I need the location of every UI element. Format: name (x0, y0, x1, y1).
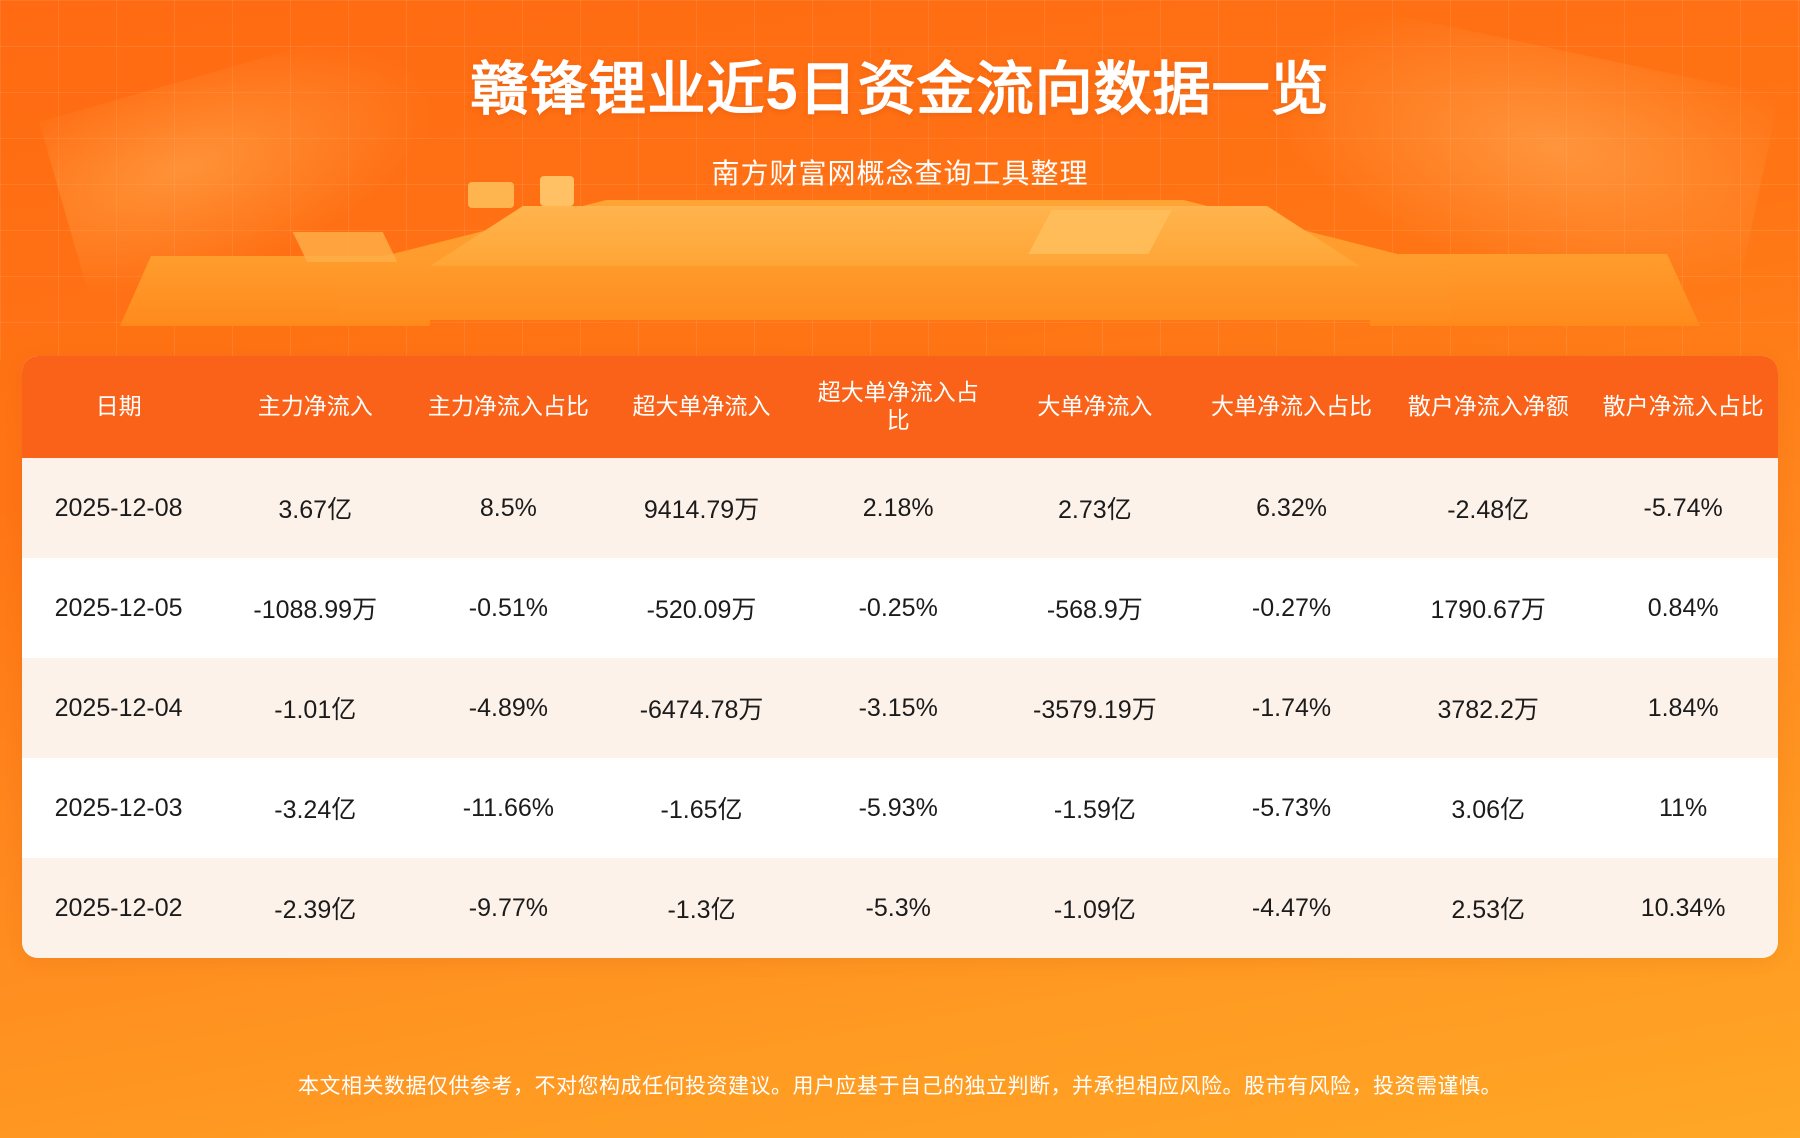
cell-retail-net: 3782.2万 (1388, 658, 1588, 758)
cell-main-pct: -9.77% (415, 858, 601, 958)
col-header-main-pct[interactable]: 主力净流入占比 (415, 356, 601, 458)
cell-retail-pct: 11% (1588, 758, 1778, 858)
block-right (1370, 254, 1700, 326)
block-center-top (430, 206, 1360, 266)
cell-retail-net: 2.53亿 (1388, 858, 1588, 958)
col-header-large-net[interactable]: 大单净流入 (995, 356, 1195, 458)
table-row: 2025-12-04 -1.01亿 -4.89% -6474.78万 -3.15… (22, 658, 1778, 758)
col-header-date[interactable]: 日期 (22, 356, 215, 458)
cell-date: 2025-12-03 (22, 758, 215, 858)
cell-date: 2025-12-05 (22, 558, 215, 658)
cell-main-net: 3.67亿 (215, 458, 415, 558)
data-table-card: 南方财富网 Southmoney.com 日期 主力净流入 主力净流入占比 超大… (22, 356, 1778, 958)
cell-retail-pct: 10.34% (1588, 858, 1778, 958)
cell-xlarge-pct: 2.18% (802, 458, 995, 558)
cell-retail-net: -2.48亿 (1388, 458, 1588, 558)
col-header-retail-net[interactable]: 散户净流入净额 (1388, 356, 1588, 458)
cell-retail-pct: -5.74% (1588, 458, 1778, 558)
col-header-retail-pct[interactable]: 散户净流入占比 (1588, 356, 1778, 458)
cell-main-net: -2.39亿 (215, 858, 415, 958)
cell-retail-pct: 0.84% (1588, 558, 1778, 658)
block-center (340, 200, 1450, 320)
cell-xlarge-pct: -5.93% (802, 758, 995, 858)
col-header-xlarge-net[interactable]: 超大单净流入 (601, 356, 801, 458)
cell-xlarge-net: -1.3亿 (601, 858, 801, 958)
table-row: 2025-12-02 -2.39亿 -9.77% -1.3亿 -5.3% -1.… (22, 858, 1778, 958)
cell-main-net: -3.24亿 (215, 758, 415, 858)
table-header-row: 日期 主力净流入 主力净流入占比 超大单净流入 超大单净流入占比 大单净流入 大… (22, 356, 1778, 458)
cell-xlarge-net: 9414.79万 (601, 458, 801, 558)
col-header-main-net[interactable]: 主力净流入 (215, 356, 415, 458)
page-title: 赣锋锂业近5日资金流向数据一览 (0, 0, 1800, 126)
cell-main-pct: -4.89% (415, 658, 601, 758)
block-nub-d (293, 232, 398, 262)
fund-flow-table: 日期 主力净流入 主力净流入占比 超大单净流入 超大单净流入占比 大单净流入 大… (22, 356, 1778, 958)
cell-large-net: -1.59亿 (995, 758, 1195, 858)
cell-large-pct: -5.73% (1195, 758, 1388, 858)
cell-main-net: -1088.99万 (215, 558, 415, 658)
cell-xlarge-pct: -5.3% (802, 858, 995, 958)
col-header-large-pct[interactable]: 大单净流入占比 (1195, 356, 1388, 458)
cell-main-pct: -0.51% (415, 558, 601, 658)
block-left (120, 256, 430, 326)
cell-xlarge-pct: -0.25% (802, 558, 995, 658)
table-row: 2025-12-05 -1088.99万 -0.51% -520.09万 -0.… (22, 558, 1778, 658)
cell-large-net: -3579.19万 (995, 658, 1195, 758)
banner-isometric-blocks (0, 196, 1800, 376)
cell-large-pct: 6.32% (1195, 458, 1388, 558)
footer-disclaimer: 本文相关数据仅供参考，不对您构成任何投资建议。用户应基于自己的独立判断，并承担相… (0, 1070, 1800, 1138)
cell-date: 2025-12-04 (22, 658, 215, 758)
cell-main-pct: -11.66% (415, 758, 601, 858)
page-subtitle: 南方财富网概念查询工具整理 (0, 126, 1800, 192)
block-nub-c (1028, 210, 1171, 254)
cell-large-pct: -1.74% (1195, 658, 1388, 758)
col-header-xlarge-pct[interactable]: 超大单净流入占比 (802, 356, 995, 458)
table-row: 2025-12-08 3.67亿 8.5% 9414.79万 2.18% 2.7… (22, 458, 1778, 558)
cell-large-pct: -0.27% (1195, 558, 1388, 658)
cell-main-net: -1.01亿 (215, 658, 415, 758)
cell-large-net: -1.09亿 (995, 858, 1195, 958)
cell-xlarge-net: -520.09万 (601, 558, 801, 658)
cell-xlarge-pct: -3.15% (802, 658, 995, 758)
cell-large-net: 2.73亿 (995, 458, 1195, 558)
banner: 赣锋锂业近5日资金流向数据一览 南方财富网概念查询工具整理 (0, 0, 1800, 192)
cell-xlarge-net: -6474.78万 (601, 658, 801, 758)
cell-xlarge-net: -1.65亿 (601, 758, 801, 858)
cell-large-net: -568.9万 (995, 558, 1195, 658)
cell-retail-net: 3.06亿 (1388, 758, 1588, 858)
cell-large-pct: -4.47% (1195, 858, 1388, 958)
cell-main-pct: 8.5% (415, 458, 601, 558)
cell-date: 2025-12-02 (22, 858, 215, 958)
cell-date: 2025-12-08 (22, 458, 215, 558)
cell-retail-net: 1790.67万 (1388, 558, 1588, 658)
cell-retail-pct: 1.84% (1588, 658, 1778, 758)
table-row: 2025-12-03 -3.24亿 -11.66% -1.65亿 -5.93% … (22, 758, 1778, 858)
